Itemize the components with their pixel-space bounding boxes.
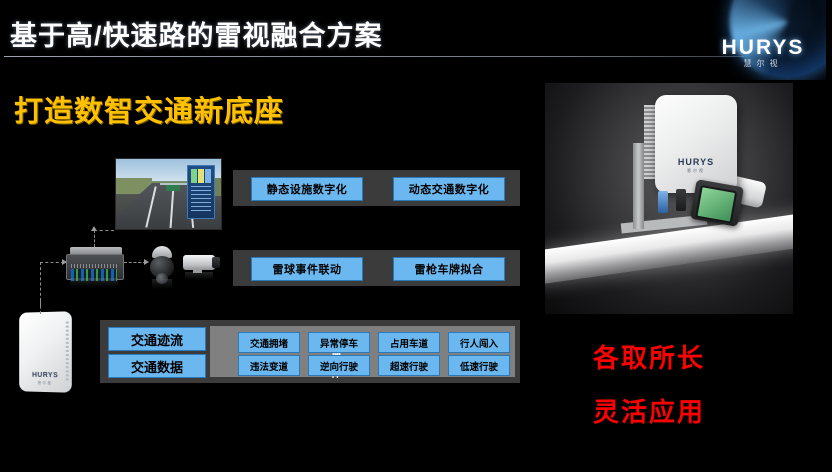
cell-illegal-lane-change[interactable]: 违法变道 <box>238 355 300 376</box>
radar-unit-logo: HURYS <box>655 157 737 167</box>
data-overlay-panel <box>187 165 215 219</box>
dome-camera <box>150 246 174 280</box>
overlay-chart <box>191 169 211 183</box>
headline: 打造数智交通新底座 <box>14 88 284 130</box>
brand-logo-text: HURYS <box>708 36 818 60</box>
bullet-camera-lens-icon <box>212 257 220 268</box>
cell-speeding[interactable]: 超速行驶 <box>378 355 440 376</box>
cell-pedestrian-intrusion[interactable]: 行人闯入 <box>448 332 510 353</box>
chip-traffic-data[interactable]: 交通数据 <box>108 354 206 378</box>
connector-black <box>676 189 686 211</box>
camera-lens-icon <box>695 185 737 224</box>
connector-line <box>40 262 64 263</box>
connector-line <box>124 262 146 263</box>
chip-traffic-trajectory[interactable]: 交通迹流 <box>108 327 206 351</box>
product-photo: HURYS 慧尔视 <box>545 83 793 314</box>
brand-logo: HURYS 慧尔视 <box>694 0 826 80</box>
chip-radar-bullet-plate-fitting[interactable]: 雷枪车牌拟合 <box>393 257 505 281</box>
panel-fusion: 雷球事件联动 雷枪车牌拟合 <box>233 250 520 286</box>
radar-device-sublogo: 慧尔视 <box>19 380 72 386</box>
slide-header: 基于高/快速路的雷视融合方案 HURYS 慧尔视 <box>0 0 832 57</box>
slogan-line-1: 各取所长 <box>593 338 705 375</box>
connector-arrow <box>91 226 97 231</box>
server-vents <box>71 264 117 268</box>
edge-server <box>66 247 122 278</box>
page-title: 基于高/快速路的雷视融合方案 <box>10 14 383 53</box>
radar-device-logo: HURYS <box>19 372 72 380</box>
server-reflection <box>70 278 118 287</box>
connector-line <box>40 262 41 306</box>
slide-root: 基于高/快速路的雷视融合方案 HURYS 慧尔视 打造数智交通新底座 HURYS… <box>0 0 832 472</box>
connector-arrow <box>144 259 149 265</box>
connector-blue <box>658 191 668 213</box>
cell-lane-occupancy[interactable]: 占用车道 <box>378 332 440 353</box>
overlay-rows <box>191 186 211 214</box>
connector-line <box>94 230 95 247</box>
cell-slow-driving[interactable]: 低速行驶 <box>448 355 510 376</box>
panel-digitalization: 静态设施数字化 动态交通数字化 <box>233 170 520 206</box>
connector-line <box>94 230 114 231</box>
chip-static-facility-digitalization[interactable]: 静态设施数字化 <box>251 177 363 201</box>
panel-outputs: 交通迹流 交通数据 交通事件 交通拥堵 异常停车 占用车道 行人闯入 违法变道 … <box>100 320 520 383</box>
cell-wrong-way-driving[interactable]: 逆向行驶 <box>308 355 370 376</box>
chip-dynamic-traffic-digitalization[interactable]: 动态交通数字化 <box>393 177 505 201</box>
cell-abnormal-parking[interactable]: 异常停车 <box>308 332 370 353</box>
header-divider <box>4 56 804 57</box>
connector-arrow <box>62 259 67 265</box>
slogan-line-2: 灵活应用 <box>593 392 705 429</box>
brand-logo-subtext: 慧尔视 <box>708 58 818 69</box>
radar-device: HURYS 慧尔视 <box>19 311 72 393</box>
server-body <box>66 254 124 280</box>
chip-radar-dome-event-linkage[interactable]: 雷球事件联动 <box>251 257 363 281</box>
bullet-camera-reflection <box>185 272 213 280</box>
bullet-camera <box>690 179 744 227</box>
highway-sign <box>166 185 180 191</box>
bullet-camera-small <box>183 253 221 273</box>
traffic-events-group: 交通事件 交通拥堵 异常停车 占用车道 行人闯入 违法变道 逆向行驶 超速行驶 … <box>210 326 515 377</box>
bullet-camera-body <box>183 255 215 270</box>
highway-monitor-screen <box>115 158 222 230</box>
dome-camera-housing <box>150 256 174 278</box>
dome-camera-reflection <box>152 279 172 289</box>
mast <box>633 143 644 229</box>
radar-unit-sublogo: 慧尔视 <box>655 168 737 174</box>
cell-traffic-congestion[interactable]: 交通拥堵 <box>238 332 300 353</box>
radar-unit: HURYS 慧尔视 <box>655 95 737 193</box>
